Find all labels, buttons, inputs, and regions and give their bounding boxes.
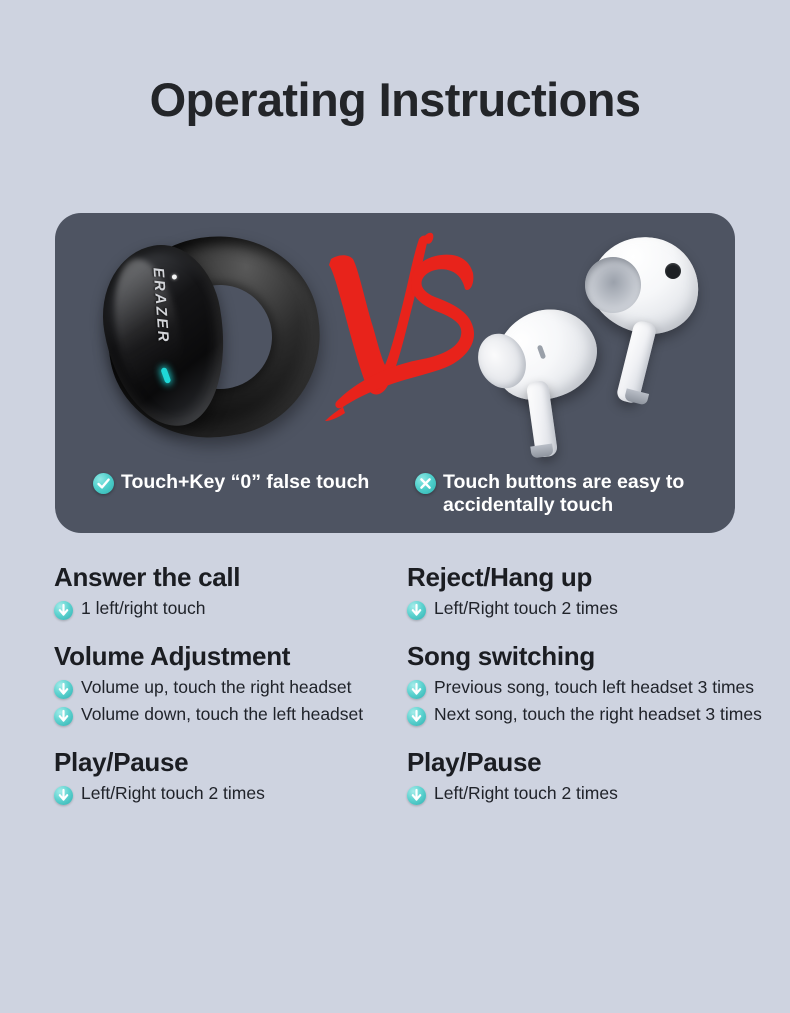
sensor-dot-icon — [665, 263, 681, 279]
instruction-section-play-pause-right: Play/Pause Left/Right touch 2 times — [407, 748, 776, 805]
bullet-text: Left/Right touch 2 times — [434, 598, 618, 619]
product-stage: ERAZER — [55, 213, 735, 458]
instruction-bullet: 1 left/right touch — [54, 598, 387, 620]
instruction-section-answer-the-call: Answer the call 1 left/right touch — [54, 563, 387, 620]
down-arrow-circle-icon — [54, 601, 73, 620]
instructions-grid: Answer the call 1 left/right touch Volum… — [0, 563, 790, 827]
bullet-text: Volume up, touch the right headset — [81, 677, 351, 698]
bullet-text: 1 left/right touch — [81, 598, 206, 619]
down-arrow-circle-icon — [407, 680, 426, 699]
bullet-text: Previous song, touch left headset 3 time… — [434, 677, 754, 698]
section-title: Play/Pause — [407, 748, 776, 778]
comparison-captions: Touch+Key “0” false touch Touch buttons … — [55, 471, 735, 517]
instruction-bullet: Left/Right touch 2 times — [407, 783, 776, 805]
bullet-text: Left/Right touch 2 times — [81, 783, 265, 804]
down-arrow-circle-icon — [54, 786, 73, 805]
instructions-column-left: Answer the call 1 left/right touch Volum… — [0, 563, 395, 827]
instruction-section-volume-adjustment: Volume Adjustment Volume up, touch the r… — [54, 642, 387, 726]
in-ear-earbuds-image — [475, 221, 705, 446]
bullet-text: Next song, touch the right headset 3 tim… — [434, 704, 762, 725]
section-title: Reject/Hang up — [407, 563, 776, 593]
instruction-bullet: Left/Right touch 2 times — [407, 598, 776, 620]
instruction-bullet: Volume down, touch the left headset — [54, 704, 387, 726]
caption-pro-text: Touch+Key “0” false touch — [121, 471, 369, 494]
open-ear-hook-earbud-image: ERAZER — [100, 233, 325, 443]
instruction-section-play-pause-left: Play/Pause Left/Right touch 2 times — [54, 748, 387, 805]
down-arrow-circle-icon — [407, 786, 426, 805]
instruction-bullet: Volume up, touch the right headset — [54, 677, 387, 699]
instruction-bullet: Previous song, touch left headset 3 time… — [407, 677, 776, 699]
instruction-section-reject-hang-up: Reject/Hang up Left/Right touch 2 times — [407, 563, 776, 620]
down-arrow-circle-icon — [54, 680, 73, 699]
section-title: Song switching — [407, 642, 776, 672]
bullet-text: Left/Right touch 2 times — [434, 783, 618, 804]
bullet-text: Volume down, touch the left headset — [81, 704, 363, 725]
mic-dot-icon — [171, 274, 177, 280]
down-arrow-circle-icon — [54, 707, 73, 726]
instruction-bullet: Left/Right touch 2 times — [54, 783, 387, 805]
gloss-highlight — [105, 254, 192, 412]
caption-con: Touch buttons are easy to accidentally t… — [415, 471, 715, 517]
section-title: Volume Adjustment — [54, 642, 387, 672]
comparison-card: ERAZER — [55, 213, 735, 533]
instructions-column-right: Reject/Hang up Left/Right touch 2 times … — [395, 563, 790, 827]
earbud-stem-cap — [530, 444, 553, 459]
vs-graphic — [323, 231, 483, 431]
page-title: Operating Instructions — [0, 0, 790, 123]
section-title: Play/Pause — [54, 748, 387, 778]
check-circle-icon — [93, 473, 114, 494]
down-arrow-circle-icon — [407, 707, 426, 726]
earbud-stem-cap — [624, 388, 649, 405]
section-title: Answer the call — [54, 563, 387, 593]
cross-circle-icon — [415, 473, 436, 494]
instruction-section-song-switching: Song switching Previous song, touch left… — [407, 642, 776, 726]
caption-pro: Touch+Key “0” false touch — [75, 471, 415, 494]
instruction-bullet: Next song, touch the right headset 3 tim… — [407, 704, 776, 726]
caption-con-text: Touch buttons are easy to accidentally t… — [443, 471, 715, 517]
down-arrow-circle-icon — [407, 601, 426, 620]
